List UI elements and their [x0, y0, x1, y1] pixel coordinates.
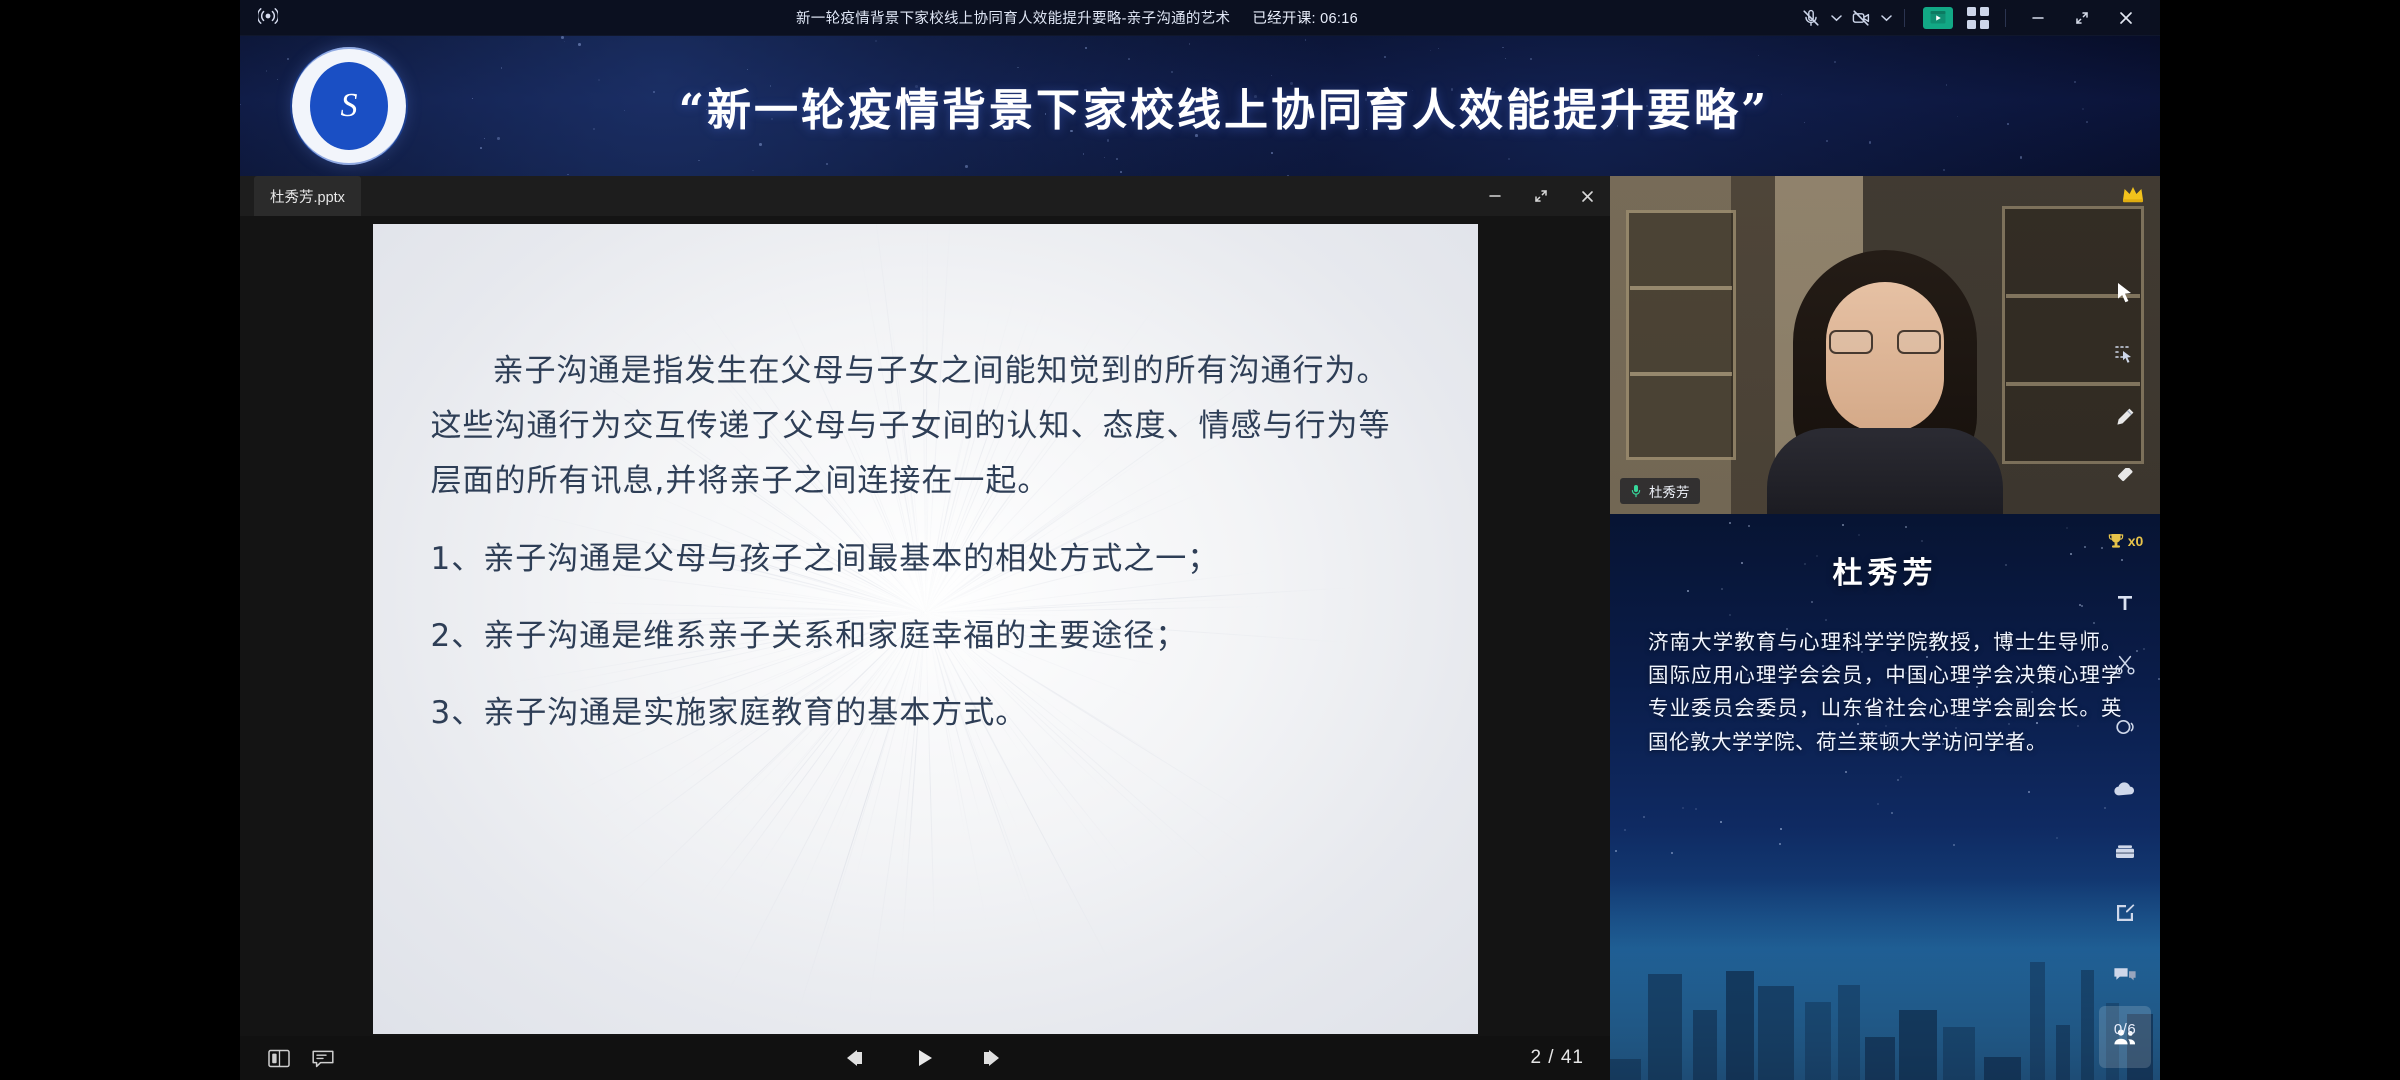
annotation-toolbar: x0 [2090, 176, 2160, 1080]
maximize-button[interactable] [2060, 0, 2104, 36]
ppt-footer-toolbar: 2 / 41 [240, 1036, 1610, 1080]
cursor-pointer-icon[interactable] [2099, 262, 2151, 324]
presenter-name-badge: 杜秀芳 [1620, 478, 1700, 504]
ppt-minimize-button[interactable] [1472, 176, 1518, 216]
app-titlebar: 新一轮疫情背景下家校线上协同育人效能提升要略-亲子沟通的艺术 已经开课: 06:… [240, 0, 2160, 36]
ppt-file-name: 杜秀芳.pptx [270, 186, 345, 207]
ppt-share-window: 杜秀芳.pptx [240, 176, 1610, 1080]
toolbox-icon[interactable] [2099, 820, 2151, 882]
presenter-torso [1767, 428, 2003, 514]
titlebar-divider-2 [2005, 9, 2006, 27]
shelf-line [1630, 286, 1732, 290]
speaker-notes-icon[interactable] [310, 1046, 336, 1070]
microphone-muted-button[interactable] [1794, 0, 1828, 36]
ppt-footer-left-group [266, 1046, 336, 1070]
trophy-icon[interactable]: x0 [2099, 510, 2151, 572]
scissors-icon[interactable] [2099, 634, 2151, 696]
recording-button[interactable] [1923, 7, 1953, 29]
trophy-count-label: x0 [2128, 533, 2144, 549]
meeting-stage: 杜秀芳.pptx [240, 176, 2160, 1080]
presenter-bio-slide: 杜秀芳 济南大学教育与心理科学学院教授，博士生导师。国际应用心理学会会员，中国心… [1610, 514, 2160, 1080]
letterbox-left [0, 0, 240, 1080]
record-circle-icon[interactable] [2099, 696, 2151, 758]
class-timer: 已经开课: 06:16 [1252, 7, 1358, 28]
participant-panel: 杜秀芳 杜秀芳 济南大学教育与心理科学学院教授，博士生导师。国际应用心理学会会员… [1610, 176, 2160, 1080]
ppt-file-tab[interactable]: 杜秀芳.pptx [254, 176, 361, 216]
microphone-options-caret[interactable] [1828, 14, 1844, 22]
cloud-icon[interactable] [2099, 758, 2151, 820]
bio-description: 济南大学教育与心理科学学院教授，博士生导师。国际应用心理学会会员，中国心理学会决… [1648, 626, 2122, 759]
institute-logo: S [290, 47, 408, 165]
camera-muted-button[interactable] [1844, 0, 1878, 36]
slide-bullet-list: 1、亲子沟通是父母与孩子之间最基本的相处方式之一； 2、亲子沟通是维系亲子关系和… [431, 544, 1420, 729]
layout-panel-icon[interactable] [266, 1046, 292, 1070]
slide-list-item: 1、亲子沟通是父母与孩子之间最基本的相处方式之一； [431, 544, 1420, 575]
slide-paragraph: 亲子沟通是指发生在父母与子女之间能知觉到的所有沟通行为。这些沟通行为交互传递了父… [431, 344, 1420, 510]
glasses-icon [1829, 330, 1941, 354]
whiteboard-edit-icon[interactable] [2099, 882, 2151, 944]
broadcast-icon [258, 7, 278, 28]
microphone-on-icon [1630, 483, 1642, 499]
slide-navigation [840, 1043, 1010, 1073]
shelf-line [1630, 372, 1732, 376]
ppt-slide-area: 亲子沟通是指发生在父母与子女之间能知觉到的所有沟通行为。这些沟通行为交互传递了父… [240, 216, 1610, 1036]
titlebar-left-group [240, 7, 360, 28]
presenter-face [1826, 282, 1944, 432]
slide-canvas: 亲子沟通是指发生在父母与子女之间能知觉到的所有沟通行为。这些沟通行为交互传递了父… [373, 224, 1478, 1034]
participant-count-label: 0/6 [2090, 1021, 2160, 1038]
banner-starfield [240, 36, 2160, 176]
online-class-window: 新一轮疫情背景下家校线上协同育人效能提升要略-亲子沟通的艺术 已经开课: 06:… [0, 0, 2400, 1080]
close-button[interactable] [2104, 0, 2148, 36]
logo-ring [290, 47, 408, 165]
apps-grid-button[interactable] [1961, 0, 1995, 36]
previous-slide-button[interactable] [840, 1043, 874, 1073]
select-lasso-icon[interactable] [2099, 324, 2151, 386]
titlebar-right-group [1794, 0, 2160, 36]
course-banner: S “新一轮疫情背景下家校线上协同育人效能提升要略” [240, 36, 2160, 176]
meeting-title: 新一轮疫情背景下家校线上协同育人效能提升要略-亲子沟通的艺术 [796, 7, 1230, 28]
slide-content: 亲子沟通是指发生在父母与子女之间能知觉到的所有沟通行为。这些沟通行为交互传递了父… [373, 224, 1478, 729]
titlebar-center-group: 新一轮疫情背景下家校线上协同育人效能提升要略-亲子沟通的艺术 已经开课: 06:… [360, 7, 1794, 28]
ppt-titlebar: 杜秀芳.pptx [240, 176, 1610, 216]
bio-name: 杜秀芳 [1610, 548, 2160, 592]
titlebar-divider-1 [1904, 9, 1905, 27]
letterbox-right [2160, 0, 2400, 1080]
slide-page-indicator: 2 / 41 [1530, 1047, 1584, 1069]
text-tool-icon[interactable] [2099, 572, 2151, 634]
ppt-maximize-button[interactable] [1518, 176, 1564, 216]
slide-list-item: 3、亲子沟通是实施家庭教育的基本方式。 [431, 698, 1420, 729]
presenter-figure [1760, 244, 2010, 514]
presenter-name-label: 杜秀芳 [1649, 481, 1690, 501]
pen-icon[interactable] [2099, 386, 2151, 448]
presenter-video-tile[interactable]: 杜秀芳 [1610, 176, 2160, 514]
city-skyline-decor [1610, 880, 2160, 1080]
play-slideshow-button[interactable] [908, 1043, 942, 1073]
minimize-button[interactable] [2016, 0, 2060, 36]
chat-bubble-icon[interactable] [2099, 944, 2151, 1006]
next-slide-button[interactable] [976, 1043, 1010, 1073]
eraser-icon[interactable] [2099, 448, 2151, 510]
shelf-decor [1626, 210, 1736, 460]
camera-options-caret[interactable] [1878, 14, 1894, 22]
grid-apps-icon [1967, 7, 1989, 29]
ppt-close-button[interactable] [1564, 176, 1610, 216]
slide-list-item: 2、亲子沟通是维系亲子关系和家庭幸福的主要途径； [431, 621, 1420, 652]
